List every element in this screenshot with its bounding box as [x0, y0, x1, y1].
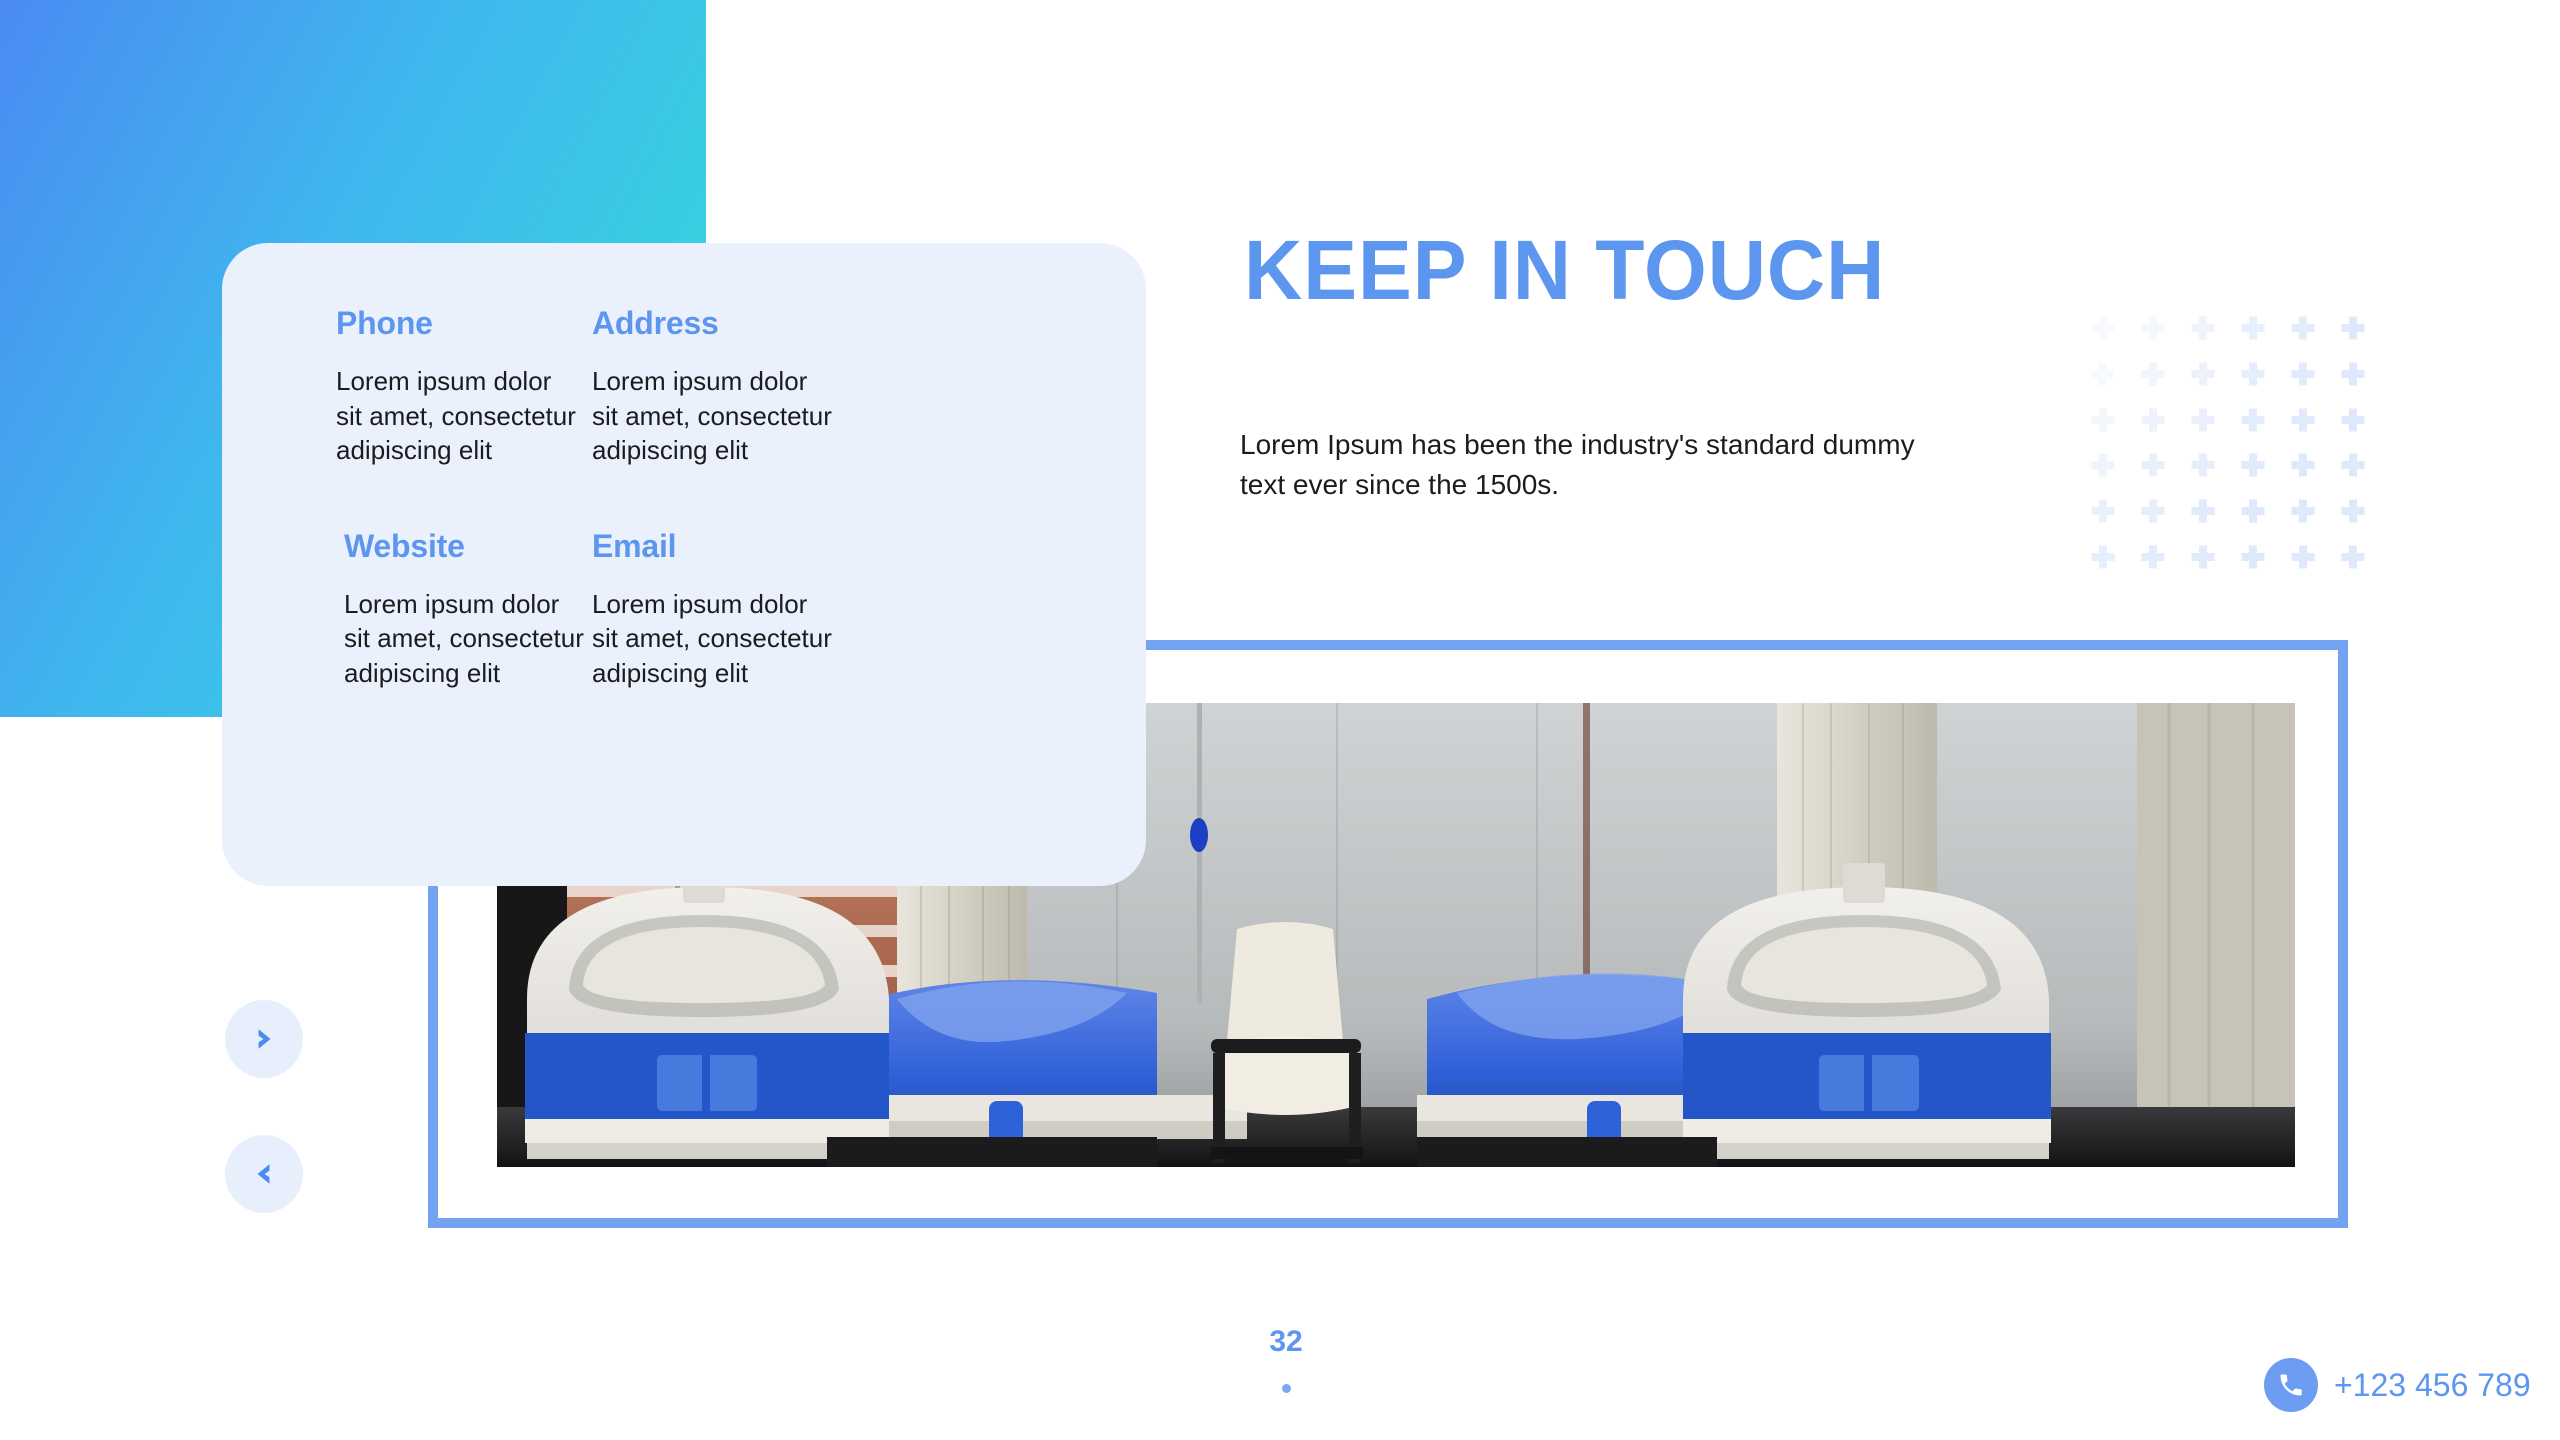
plus-icon [2178, 351, 2228, 397]
plus-icon [2228, 442, 2278, 488]
plus-icon [2178, 442, 2228, 488]
phone-number-text: +123 456 789 [2334, 1367, 2531, 1404]
intro-paragraph: Lorem Ipsum has been the industry's stan… [1240, 425, 1940, 505]
phone-glyph [2277, 1371, 2305, 1399]
plus-icon [2278, 397, 2328, 443]
page-indicator-dot [1282, 1384, 1291, 1393]
plus-icon [2078, 534, 2128, 580]
plus-icon [2178, 534, 2228, 580]
contact-item-email: Email Lorem ipsum dolor sit amet, consec… [592, 526, 1106, 691]
plus-icon [2128, 442, 2178, 488]
plus-icon [2128, 351, 2178, 397]
plus-icon [2328, 305, 2378, 351]
plus-icon [2178, 488, 2228, 534]
contact-body-website: Lorem ipsum dolor sit amet, consectetur … [344, 587, 584, 691]
plus-icon [2128, 305, 2178, 351]
plus-pattern-decoration [2078, 305, 2378, 580]
chevron-left-icon [251, 1161, 277, 1187]
plus-icon [2278, 305, 2328, 351]
footer-phone-contact[interactable]: +123 456 789 [2264, 1358, 2531, 1412]
plus-icon [2078, 397, 2128, 443]
plus-icon [2278, 534, 2328, 580]
plus-icon [2228, 305, 2278, 351]
plus-icon [2178, 305, 2228, 351]
plus-icon [2128, 397, 2178, 443]
next-slide-button[interactable] [225, 1000, 303, 1078]
plus-icon [2178, 397, 2228, 443]
contact-body-email: Lorem ipsum dolor sit amet, consectetur … [592, 587, 832, 691]
contact-item-website: Website Lorem ipsum dolor sit amet, cons… [336, 526, 592, 691]
plus-icon [2278, 488, 2328, 534]
plus-icon [2078, 351, 2128, 397]
contact-title-phone: Phone [336, 305, 592, 342]
contact-body-address: Lorem ipsum dolor sit amet, consectetur … [592, 364, 832, 468]
contact-info-card: Phone Lorem ipsum dolor sit amet, consec… [222, 243, 1146, 886]
contact-grid: Phone Lorem ipsum dolor sit amet, consec… [222, 305, 1146, 690]
plus-icon [2228, 351, 2278, 397]
contact-title-website: Website [344, 528, 592, 565]
plus-icon [2328, 488, 2378, 534]
plus-icon [2228, 488, 2278, 534]
plus-icon [2078, 305, 2128, 351]
plus-icon [2228, 534, 2278, 580]
contact-body-phone: Lorem ipsum dolor sit amet, consectetur … [336, 364, 576, 468]
plus-icon [2078, 442, 2128, 488]
plus-icon [2278, 351, 2328, 397]
plus-icon [2128, 534, 2178, 580]
plus-icon [2078, 488, 2128, 534]
plus-icon [2278, 442, 2328, 488]
page-title: KEEP IN TOUCH [1244, 228, 1885, 312]
plus-icon [2128, 488, 2178, 534]
plus-icon [2328, 534, 2378, 580]
previous-slide-button[interactable] [225, 1135, 303, 1213]
phone-icon [2264, 1358, 2318, 1412]
contact-title-email: Email [592, 528, 1106, 565]
plus-icon [2328, 397, 2378, 443]
contact-item-phone: Phone Lorem ipsum dolor sit amet, consec… [336, 305, 592, 468]
chevron-right-icon [251, 1026, 277, 1052]
contact-item-address: Address Lorem ipsum dolor sit amet, cons… [592, 305, 1106, 468]
contact-title-address: Address [592, 305, 1106, 342]
plus-icon [2228, 397, 2278, 443]
page-number: 32 [1256, 1325, 1316, 1359]
plus-icon [2328, 351, 2378, 397]
plus-icon [2328, 442, 2378, 488]
